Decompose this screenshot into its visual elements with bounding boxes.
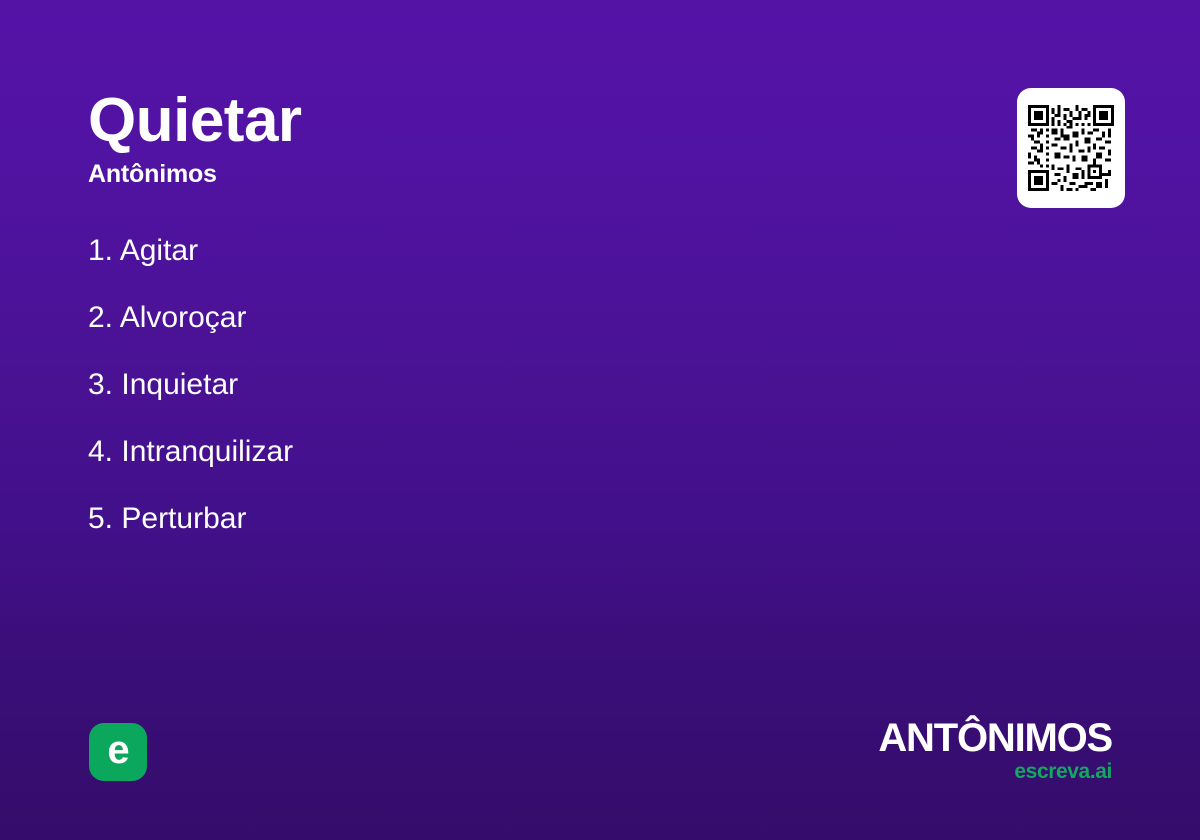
list-item-word: Perturbar bbox=[121, 502, 246, 535]
word-heading-block: Quietar Antônimos bbox=[88, 88, 728, 189]
page-title: Quietar bbox=[88, 88, 728, 153]
list-item: 1. Agitar bbox=[88, 236, 788, 266]
brand-name: ANTÔNIMOS bbox=[812, 718, 1112, 758]
list-item: 2. Alvoroçar bbox=[88, 303, 788, 333]
list-item-index: 2. bbox=[88, 301, 113, 334]
qr-code[interactable] bbox=[1017, 88, 1125, 208]
list-item: 4. Intranquilizar bbox=[88, 437, 788, 467]
antonyms-list: 1. Agitar 2. Alvoroçar 3. Inquietar 4. I… bbox=[88, 236, 788, 571]
list-item-word: Intranquilizar bbox=[121, 435, 293, 468]
list-item-index: 3. bbox=[88, 368, 113, 401]
list-item-word: Alvoroçar bbox=[120, 301, 247, 334]
list-item: 3. Inquietar bbox=[88, 370, 788, 400]
list-item-index: 1. bbox=[88, 234, 113, 267]
list-item-word: Agitar bbox=[120, 234, 198, 267]
list-item: 5. Perturbar bbox=[88, 504, 788, 534]
list-item-word: Inquietar bbox=[121, 368, 238, 401]
escreva-app-logo[interactable]: e bbox=[89, 723, 147, 781]
escreva-e-logo-icon: e bbox=[107, 730, 128, 770]
brand-lockup: ANTÔNIMOS escreva.ai bbox=[812, 718, 1112, 782]
list-item-index: 4. bbox=[88, 435, 113, 468]
category-subtitle: Antônimos bbox=[88, 159, 728, 189]
list-item-index: 5. bbox=[88, 502, 113, 535]
qr-code-icon bbox=[1028, 105, 1114, 191]
brand-domain: escreva.ai bbox=[812, 761, 1112, 782]
